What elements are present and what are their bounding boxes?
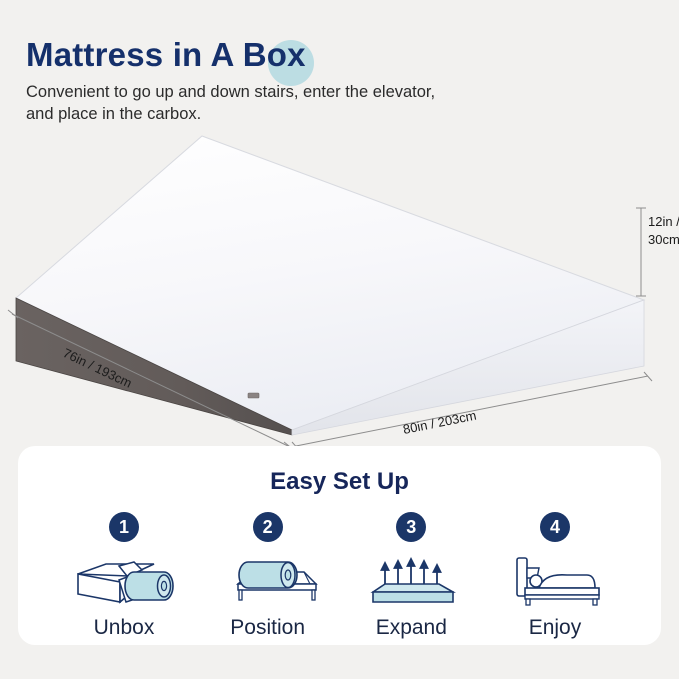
- setup-step-position: 2 Position: [198, 512, 338, 640]
- setup-card-title: Easy Set Up: [18, 468, 661, 496]
- step-label-1: Unbox: [94, 616, 155, 640]
- dimension-height-label-line2: 30cm: [648, 232, 679, 247]
- page-title: Mattress in A Box: [26, 36, 306, 73]
- step-badge-1: 1: [109, 512, 139, 542]
- step-badge-3: 3: [396, 512, 426, 542]
- box-with-roll-icon: [72, 548, 176, 610]
- subtitle-line-1: Convenient to go up and down stairs, ent…: [26, 83, 435, 101]
- step-badge-2: 2: [253, 512, 283, 542]
- setup-step-enjoy: 4: [485, 512, 625, 640]
- box-tab-detail: [248, 393, 259, 398]
- dimension-height-label-line1: 12in /: [648, 214, 679, 229]
- step-label-2: Position: [230, 616, 305, 640]
- step-badge-4: 4: [540, 512, 570, 542]
- setup-steps: 1 Unbox 2: [18, 496, 661, 640]
- person-sleeping-in-bed-icon: [503, 548, 607, 610]
- roll-on-bed-base-icon: [216, 548, 320, 610]
- page-title-wrap: Mattress in A Box: [26, 38, 306, 71]
- header: Mattress in A Box Convenient to go up an…: [26, 38, 646, 126]
- mattress-expanding-arrows-icon: [359, 548, 463, 610]
- mattress-box-illustration: 12in / 30cm 76in / 193cm 80in / 203cm: [0, 118, 679, 448]
- setup-step-unbox: 1 Unbox: [54, 512, 194, 640]
- step-label-3: Expand: [376, 616, 447, 640]
- dimension-height: 12in / 30cm: [636, 208, 679, 296]
- step-label-4: Enjoy: [529, 616, 582, 640]
- dimension-right-label: 80in / 203cm: [402, 408, 478, 437]
- easy-setup-card: Easy Set Up 1 Unbox: [18, 446, 661, 645]
- setup-step-expand: 3: [341, 512, 481, 640]
